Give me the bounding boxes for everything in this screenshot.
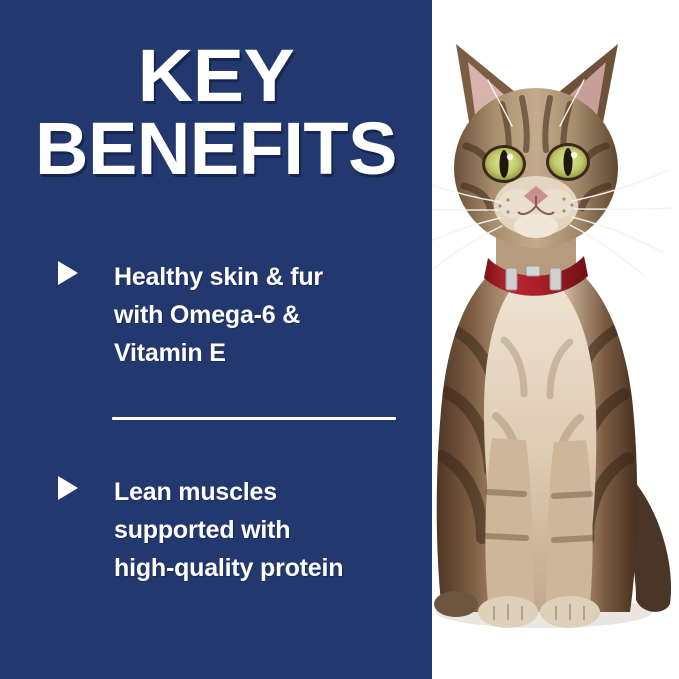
tabby-cat-illustration — [432, 0, 679, 679]
cat-photo — [432, 0, 679, 679]
divider — [112, 417, 396, 420]
title-line-benefits: BENEFITS — [0, 113, 432, 186]
benefit-item: Healthy skin & fur with Omega-6 & Vitami… — [56, 258, 416, 372]
title-line-key: KEY — [0, 40, 441, 113]
key-benefits-infographic: KEY BENEFITS Healthy skin & fur with Ome… — [0, 0, 679, 679]
benefit-text: Lean muscles supported with high-quality… — [114, 473, 343, 587]
triangle-right-icon — [56, 260, 80, 286]
page-title: KEY BENEFITS — [0, 40, 432, 185]
benefit-text: Healthy skin & fur with Omega-6 & Vitami… — [114, 258, 323, 372]
triangle-right-icon — [56, 475, 80, 501]
benefit-item: Lean muscles supported with high-quality… — [56, 473, 416, 587]
